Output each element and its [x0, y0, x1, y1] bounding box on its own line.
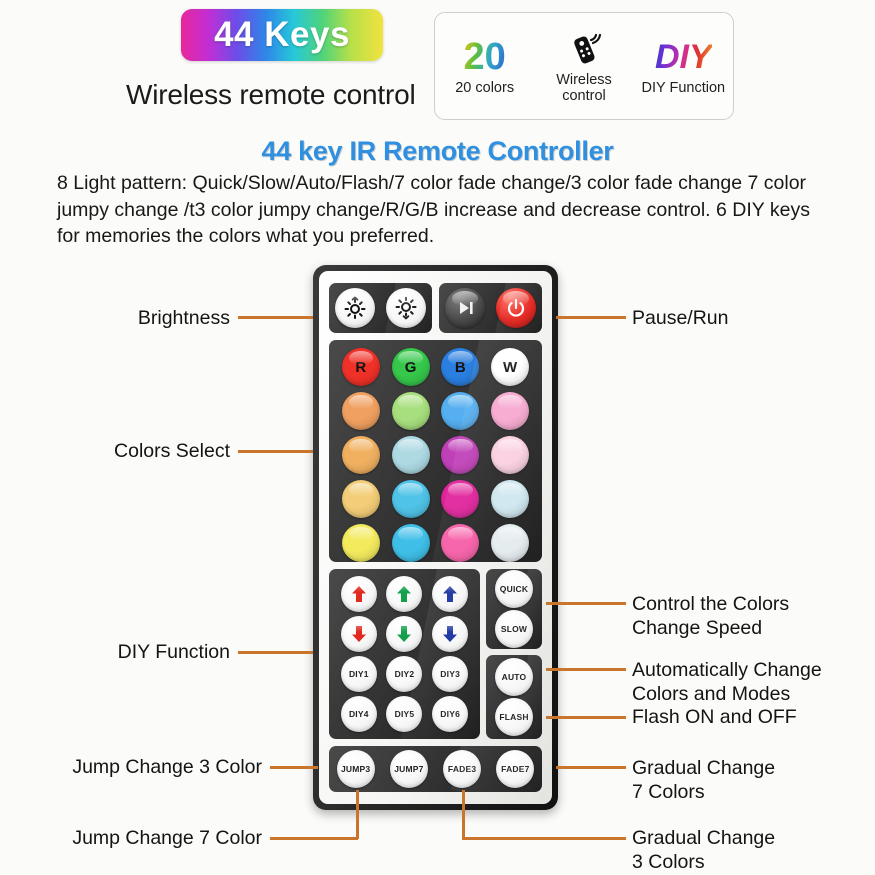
green-down-button[interactable] — [386, 616, 422, 652]
mode-button-flash[interactable]: FLASH — [495, 698, 533, 736]
diy-button-diy3[interactable]: DIY3 — [432, 656, 468, 692]
sun-down-icon — [394, 296, 418, 320]
arrow-down-icon — [394, 624, 414, 644]
annotation-gradual-3: Gradual Change 3 Colors — [632, 826, 864, 874]
annotation-gradual-7: Gradual Change 7 Colors — [632, 756, 864, 804]
color-button-12[interactable] — [342, 480, 380, 518]
power-button[interactable] — [496, 288, 536, 328]
bottom-button-fade3[interactable]: FADE3 — [443, 750, 481, 788]
brightness-down-button[interactable] — [386, 288, 426, 328]
number-20-icon: 20 — [464, 36, 506, 78]
play-pause-icon — [454, 297, 476, 319]
leader-line-flash — [546, 716, 626, 719]
speed-button-slow[interactable]: SLOW — [495, 610, 533, 648]
keys-badge: 44 Keys — [181, 9, 383, 61]
brightness-up-button[interactable] — [335, 288, 375, 328]
color-button-11[interactable] — [491, 436, 529, 474]
brightness-panel — [329, 283, 432, 333]
color-button-8[interactable] — [342, 436, 380, 474]
annotation-auto-change: Automatically Change Colors and Modes — [632, 658, 870, 706]
remote-wireless-icon — [564, 28, 604, 70]
diy-icon: DIY — [655, 36, 712, 78]
leader-line-gradual3-h — [462, 837, 626, 840]
remote-control: RGBW DIY1DIY2DIY3DIY4DIY5DIY6 QUICKSLOW … — [313, 265, 558, 810]
leader-line-pause-run — [556, 316, 626, 319]
speed-panel: QUICKSLOW — [486, 569, 542, 649]
keys-badge-label: 44 Keys — [214, 15, 350, 55]
color-button-17[interactable] — [392, 524, 430, 562]
arrow-up-icon — [394, 584, 414, 604]
sun-up-icon — [343, 296, 367, 320]
annotation-diy-function: DIY Function — [30, 640, 230, 664]
feature-card: 20 20 colors Wire — [434, 12, 734, 120]
leader-line-jump3 — [270, 766, 318, 769]
diy-button-diy4[interactable]: DIY4 — [341, 696, 377, 732]
color-button-6[interactable] — [441, 392, 479, 430]
red-up-button[interactable] — [341, 576, 377, 612]
mode-button-auto[interactable]: AUTO — [495, 658, 533, 696]
color-button-10[interactable] — [441, 436, 479, 474]
feature-caption: DIY Function — [642, 80, 726, 96]
green-up-button[interactable] — [386, 576, 422, 612]
annotation-pause-run: Pause/Run — [632, 306, 862, 330]
bottom-button-jump7[interactable]: JUMP7 — [390, 750, 428, 788]
leader-line-brightness — [238, 316, 313, 319]
power-icon — [505, 297, 527, 319]
diy-button-diy1[interactable]: DIY1 — [341, 656, 377, 692]
color-grid-panel: RGBW — [329, 340, 542, 562]
diy-button-diy5[interactable]: DIY5 — [386, 696, 422, 732]
color-button-5[interactable] — [392, 392, 430, 430]
infographic-root: 44 Keys Wireless remote control 20 20 co… — [0, 0, 875, 875]
leader-line-gradual7 — [556, 766, 626, 769]
annotation-flash: Flash ON and OFF — [632, 705, 870, 729]
annotation-change-speed: Control the Colors Change Speed — [632, 592, 864, 640]
remote-side-column: QUICKSLOW AUTOFLASH — [486, 569, 542, 739]
blue-up-button[interactable] — [432, 576, 468, 612]
arrow-down-icon — [440, 624, 460, 644]
annotation-colors-select: Colors Select — [30, 439, 230, 463]
jump-fade-panel: JUMP3JUMP7FADE3FADE7 — [329, 746, 542, 792]
leader-line-auto — [546, 668, 626, 671]
speed-button-quick[interactable]: QUICK — [495, 570, 533, 608]
leader-line-change-speed — [546, 602, 626, 605]
leader-line-gradual3-v — [462, 790, 465, 839]
leader-line-jump7-v — [356, 790, 359, 839]
annotation-jump-change-7-color: Jump Change 7 Color — [14, 826, 262, 850]
color-button-18[interactable] — [441, 524, 479, 562]
remote-face: RGBW DIY1DIY2DIY3DIY4DIY5DIY6 QUICKSLOW … — [319, 271, 552, 804]
feature-wireless-control: Wireless control — [534, 28, 633, 104]
annotation-jump-change-3-color: Jump Change 3 Color — [14, 755, 262, 779]
bottom-button-jump3[interactable]: JUMP3 — [337, 750, 375, 788]
play-pause-button[interactable] — [445, 288, 485, 328]
color-button-19[interactable] — [491, 524, 529, 562]
color-button-b[interactable]: B — [441, 348, 479, 386]
wireless-heading: Wireless remote control — [126, 79, 436, 111]
color-button-r[interactable]: R — [342, 348, 380, 386]
remote-middle-section: DIY1DIY2DIY3DIY4DIY5DIY6 QUICKSLOW AUTOF… — [329, 569, 542, 739]
color-button-9[interactable] — [392, 436, 430, 474]
color-button-4[interactable] — [342, 392, 380, 430]
bottom-button-fade7[interactable]: FADE7 — [496, 750, 534, 788]
red-down-button[interactable] — [341, 616, 377, 652]
leader-line-colors-select — [238, 450, 313, 453]
arrow-diy-panel: DIY1DIY2DIY3DIY4DIY5DIY6 — [329, 569, 480, 739]
color-button-16[interactable] — [342, 524, 380, 562]
arrow-up-icon — [440, 584, 460, 604]
feature-20-colors: 20 20 colors — [435, 36, 534, 96]
remote-top-row — [329, 283, 542, 333]
color-button-13[interactable] — [392, 480, 430, 518]
diy-button-diy6[interactable]: DIY6 — [432, 696, 468, 732]
mode-panel: AUTOFLASH — [486, 655, 542, 739]
color-button-g[interactable]: G — [392, 348, 430, 386]
description-text: 8 Light pattern: Quick/Slow/Auto/Flash/7… — [57, 170, 827, 250]
color-button-w[interactable]: W — [491, 348, 529, 386]
color-button-15[interactable] — [491, 480, 529, 518]
feature-caption: Wireless control — [534, 72, 633, 104]
page-title: 44 key IR Remote Controller — [0, 136, 875, 167]
diy-button-diy2[interactable]: DIY2 — [386, 656, 422, 692]
annotation-brightness: Brightness — [30, 306, 230, 330]
feature-diy-function: DIY DIY Function — [634, 36, 733, 96]
color-button-14[interactable] — [441, 480, 479, 518]
arrow-down-icon — [349, 624, 369, 644]
blue-down-button[interactable] — [432, 616, 468, 652]
power-panel — [439, 283, 542, 333]
arrow-up-icon — [349, 584, 369, 604]
color-button-7[interactable] — [491, 392, 529, 430]
leader-line-jump7-h — [270, 837, 358, 840]
leader-line-diy-function — [238, 651, 313, 654]
feature-caption: 20 colors — [455, 80, 514, 96]
